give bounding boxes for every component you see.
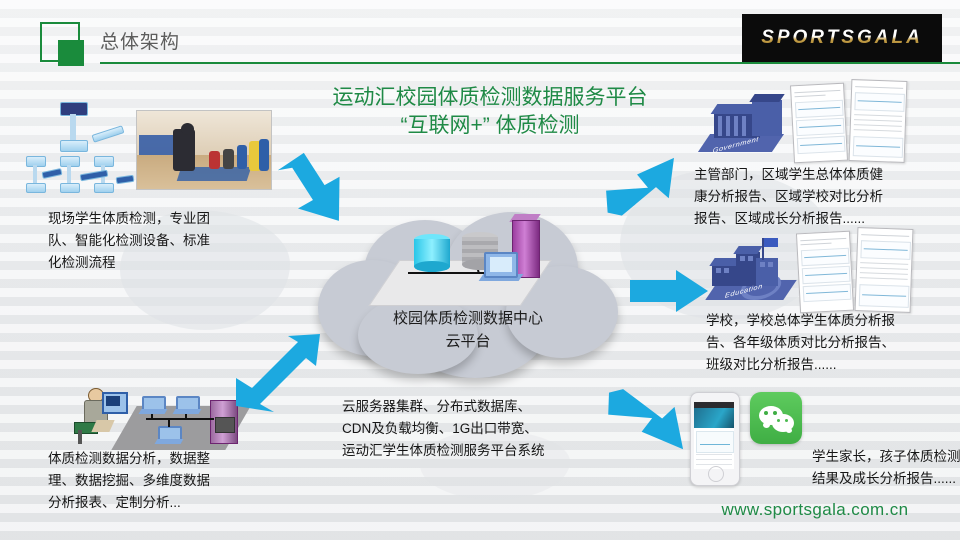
- cloud-platform-graphic: 校园体质检测数据中心 云平台: [318, 212, 618, 384]
- datacenter-icon: [384, 242, 556, 304]
- computer-icon: [484, 252, 518, 280]
- analysis-report-document: [790, 83, 848, 164]
- data-analysis-caption: 体质检测数据分析，数据整 理、数据挖掘、多维度数据 分析报表、定制分析...: [48, 448, 273, 514]
- analysis-report-document: [855, 227, 914, 313]
- diagram-title-line2: “互联网+” 体质检测: [290, 112, 690, 140]
- footer-url[interactable]: www.sportsgala.com.cn: [680, 500, 950, 520]
- testing-equipment-icon: [18, 100, 136, 200]
- onsite-testing-caption: 现场学生体质检测，专业团 队、智能化检测设备、标准 化检测流程: [48, 208, 273, 274]
- government-building-icon: Government: [700, 90, 786, 156]
- arrow-intake-to-cloud: [272, 152, 354, 228]
- smartphone-icon: [690, 392, 740, 486]
- infrastructure-caption: 云服务器集群、分布式数据库、 CDN及负载均衡、1G出口带宽、 运动汇学生体质检…: [342, 396, 622, 462]
- analysis-report-document: [796, 231, 854, 314]
- diagram-title-line1: 运动汇校园体质检测数据服务平台: [290, 84, 690, 112]
- cloud-label: 校园体质检测数据中心 云平台: [318, 308, 618, 353]
- logo-solid-icon: [58, 40, 84, 66]
- wechat-icon: [750, 392, 802, 444]
- database-icon: [414, 234, 450, 276]
- gym-testing-photo: [136, 110, 272, 190]
- cloud-label-line1: 校园体质检测数据中心: [318, 308, 618, 331]
- parent-caption: 学生家长，孩子体质检测 结果及成长分析报告......: [812, 446, 960, 490]
- slide-canvas: 总体架构 SPORTSGALA 运动汇校园体质检测数据服务平台 “互联网+” 体…: [0, 0, 960, 540]
- brand-logo-text: SPORTSGALA: [761, 27, 923, 49]
- arrow-cloud-to-school: [630, 270, 708, 312]
- arrow-cloud-to-department: [602, 152, 686, 218]
- header-divider: [100, 62, 960, 64]
- diagram-title: 运动汇校园体质检测数据服务平台 “互联网+” 体质检测: [290, 84, 690, 141]
- cloud-label-line2: 云平台: [318, 331, 618, 354]
- school-building-icon: Education: [706, 238, 796, 304]
- analysis-report-document: [849, 79, 908, 163]
- arrow-analysis-to-cloud: [228, 330, 328, 414]
- page-title: 总体架构: [100, 27, 180, 54]
- school-caption: 学校，学校总体学生体质分析报 告、各年级体质对比分析报告、 班级对比分析报告..…: [706, 310, 956, 376]
- data-analyst-icon: [72, 386, 126, 444]
- slide-header: 总体架构 SPORTSGALA: [0, 0, 960, 66]
- brand-logo: SPORTSGALA: [742, 14, 942, 62]
- department-caption: 主管部门，区域学生总体体质健 康分析报告、区域学校对比分析 报告、区域成长分析报…: [694, 164, 952, 230]
